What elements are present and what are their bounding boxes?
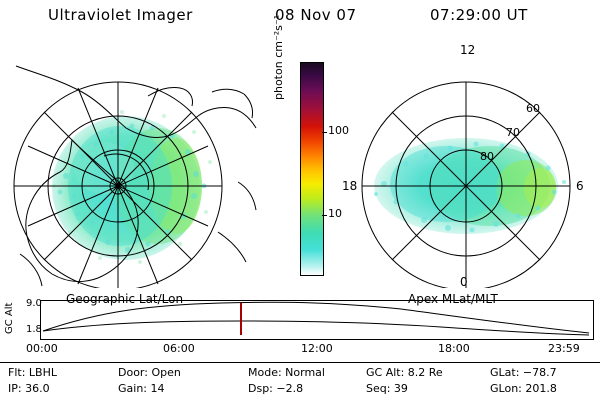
status-footer: Flt: LBHL Door: Open Mode: Normal GC Alt… (0, 366, 600, 400)
time-label-2359: 23:59 (548, 342, 580, 355)
colorbar-axis-label: photon cm⁻²s⁻¹ (272, 15, 285, 100)
geographic-map-panel[interactable] (8, 36, 264, 288)
altitude-plot-box (40, 300, 594, 340)
apex-map-svg: 60 70 80 12 18 6 0 (340, 36, 592, 288)
colorbar: photon cm⁻²s⁻¹ 100 10 (276, 62, 334, 278)
status-mode: Mode: Normal (248, 366, 325, 379)
altitude-tick-max: 9.0 (26, 298, 38, 309)
status-glat: GLat: −78.7 (490, 366, 557, 379)
apex-magnetic-panel[interactable]: 60 70 80 12 18 6 0 (340, 36, 592, 288)
observation-date: 08 Nov 07 (275, 6, 357, 24)
status-flt: Flt: LBHL (8, 366, 57, 379)
time-label-1200: 12:00 (301, 342, 333, 355)
altitude-axis-label: GC Alt (4, 303, 15, 334)
header-bar: Ultraviolet Imager 08 Nov 07 07:29:00 UT (0, 6, 600, 28)
time-label-1800: 18:00 (438, 342, 470, 355)
svg-text:80: 80 (480, 150, 494, 163)
colorbar-scale (300, 62, 324, 276)
geographic-map-svg (8, 36, 264, 288)
svg-text:18: 18 (342, 179, 357, 193)
status-door: Door: Open (118, 366, 181, 379)
instrument-title: Ultraviolet Imager (48, 6, 193, 24)
svg-text:70: 70 (506, 126, 520, 139)
svg-text:60: 60 (526, 102, 540, 115)
status-seq: Seq: 39 (366, 382, 408, 395)
time-label-0000: 00:00 (26, 342, 58, 355)
altitude-curve (43, 302, 589, 333)
status-gcalt: GC Alt: 8.2 Re (366, 366, 443, 379)
footer-divider (0, 362, 600, 363)
status-glon: GLon: 201.8 (490, 382, 557, 395)
altitude-tick-min: 1.8 (26, 324, 38, 335)
svg-text:6: 6 (576, 179, 584, 193)
svg-text:0: 0 (460, 275, 468, 288)
altitude-curve-svg (41, 301, 591, 337)
uvi-display-window: Ultraviolet Imager 08 Nov 07 07:29:00 UT (0, 0, 600, 400)
colorbar-gradient (301, 63, 323, 275)
status-dsp: Dsp: −2.8 (248, 382, 303, 395)
status-gain: Gain: 14 (118, 382, 165, 395)
time-label-0600: 06:00 (163, 342, 195, 355)
time-axis: 00:00 06:00 12:00 18:00 23:59 (8, 342, 592, 358)
svg-text:12: 12 (460, 43, 475, 57)
status-ip: IP: 36.0 (8, 382, 50, 395)
observation-time: 07:29:00 UT (430, 6, 528, 24)
orbit-altitude-strip[interactable]: GC Alt 9.0 1.8 (8, 300, 592, 340)
